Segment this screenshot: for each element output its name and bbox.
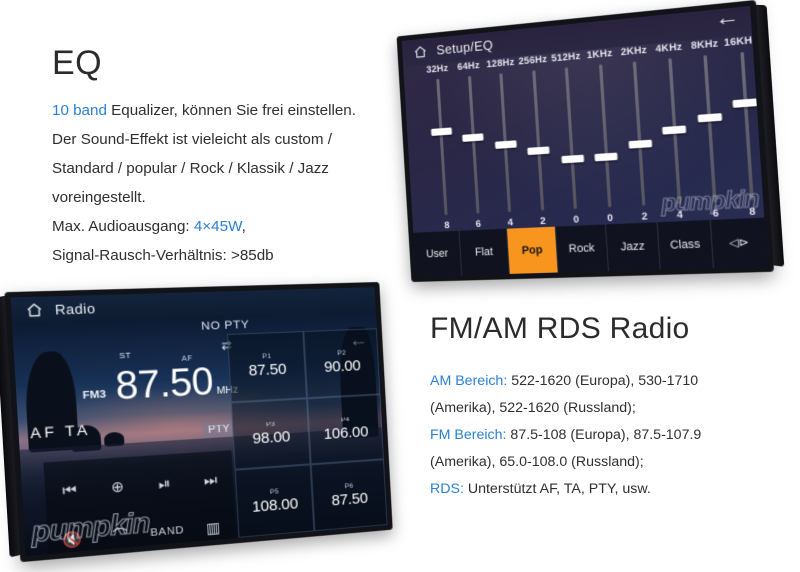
frequency-display: 87.50MHz	[114, 361, 238, 406]
eq-band-frequency-label: 128Hz	[486, 57, 515, 70]
stereo-indicator: ST	[119, 350, 132, 360]
eq-preset-rock[interactable]: Rock	[556, 224, 609, 272]
artwork-rock	[104, 432, 125, 447]
eq-band-frequency-label: 8KHz	[691, 38, 719, 51]
eq-slider-track[interactable]	[436, 79, 447, 215]
poster-canvas: EQ 10 band Equalizer, können Sie frei ei…	[0, 0, 800, 572]
radio-preset-p2[interactable]: P290.00	[303, 328, 380, 398]
frequency-unit: MHz	[216, 384, 238, 397]
eq-screen: Setup/EQ ← 32Hz864Hz6128Hz4256Hz2512Hz01…	[402, 6, 768, 277]
eq-slider-knob[interactable]	[697, 113, 722, 122]
eq-preset-user[interactable]: User	[413, 231, 462, 277]
eq-band-area: 32Hz864Hz6128Hz4256Hz2512Hz01KHz02KHz24K…	[403, 35, 764, 233]
eq-preset-class[interactable]: Class	[658, 220, 714, 270]
artwork-rock	[71, 425, 102, 452]
eq-head-unit: Setup/EQ ← 32Hz864Hz6128Hz4256Hz2512Hz01…	[397, 0, 774, 282]
eq-band-frequency-label: 32Hz	[426, 63, 448, 75]
preset-number: P6	[345, 482, 354, 490]
fm-line-2: 87.5-108 (Europa), 87.5-107.9	[506, 427, 701, 443]
af-ta-buttons[interactable]: AF TA	[30, 421, 91, 442]
eq-band-value: 0	[573, 213, 579, 225]
eq-preset-jazz[interactable]: Jazz	[606, 222, 661, 271]
af-button[interactable]: AF	[30, 423, 58, 442]
eq-slider-track[interactable]	[703, 55, 716, 202]
eq-slider-knob[interactable]	[462, 133, 484, 142]
eq-line-2: Standard / popular / Rock / Klassik / Ja…	[52, 154, 402, 183]
eq-band-32hz[interactable]: 32Hz8	[422, 62, 462, 232]
equalizer-icon[interactable]: ▥	[194, 515, 231, 541]
preset-number: P4	[341, 416, 350, 424]
preset-frequency: 98.00	[252, 428, 291, 448]
eq-band-value: 0	[607, 211, 613, 223]
eq-band-64hz[interactable]: 64Hz6	[453, 59, 494, 230]
band-indicator: FM3	[82, 388, 106, 402]
speaker-balance-icon[interactable]: ◁⊳	[711, 218, 768, 268]
frequency-value: 87.50	[114, 360, 214, 408]
eq-titlebar: Setup/EQ	[402, 6, 752, 67]
fm-line-0: 522-1620 (Europa), 530-1710	[507, 373, 698, 389]
shuffle-icon[interactable]: ⇄	[221, 338, 232, 353]
eq-slider-knob[interactable]	[431, 127, 452, 136]
radio-preset-p6[interactable]: P687.50	[311, 460, 388, 532]
eq-band-1khz[interactable]: 1KHz0	[583, 47, 627, 225]
eq-power-value: 4×45W	[194, 218, 242, 235]
next-station-icon[interactable]: ⏭	[192, 467, 229, 492]
eq-slider-track[interactable]	[599, 64, 611, 207]
eq-band-128hz[interactable]: 128Hz4	[485, 57, 526, 230]
pty-button[interactable]: PTY	[202, 421, 235, 437]
eq-slider-track[interactable]	[740, 52, 753, 201]
artwork-rock	[23, 351, 79, 453]
eq-slider-track[interactable]	[565, 67, 577, 209]
eq-band-count: 10 band	[52, 102, 107, 119]
fm-heading: FM/AM RDS Radio	[430, 312, 690, 346]
station-artwork	[12, 312, 387, 556]
fm-range-label: FM Bereich:	[430, 427, 506, 443]
eq-slider-track[interactable]	[468, 76, 480, 214]
brand-watermark: pumpkin	[30, 507, 150, 550]
fm-line-3: (Amerika), 65.0-108.0 (Russland);	[430, 449, 790, 476]
pty-status: NO PTY	[201, 319, 250, 333]
radio-preset-p1[interactable]: P187.50	[227, 331, 307, 402]
preset-frequency: 106.00	[323, 423, 368, 443]
eq-band-2khz[interactable]: 2KHz2	[617, 44, 662, 223]
radio-control-bar: ⏮⊕⏯⏭ 🔇⌒BAND▥	[43, 450, 236, 554]
eq-slider-knob[interactable]	[495, 140, 517, 149]
headphone-icon[interactable]: ⌒	[101, 522, 140, 548]
eq-line-3: voreingestellt.	[52, 183, 402, 212]
radio-screen: Radio NO PTY ← ⇄ ST AF FM3 87.50MHz AF T…	[11, 287, 388, 556]
eq-band-value: 4	[507, 216, 513, 228]
rds-label: RDS:	[430, 481, 464, 497]
home-icon[interactable]	[25, 302, 44, 319]
eq-line-1: Der Sound-Effekt ist vieleicht als custo…	[52, 125, 402, 154]
eq-preset-flat[interactable]: Flat	[460, 229, 510, 276]
preset-frequency: 90.00	[324, 357, 361, 376]
preset-grid: P187.50P290.00P398.00P4106.00P5108.00P68…	[227, 328, 388, 538]
eq-preset-pop[interactable]: Pop	[507, 227, 559, 274]
eq-slider-track[interactable]	[499, 73, 511, 212]
eq-line-0: Equalizer, können Sie frei einstellen.	[107, 102, 356, 119]
radio-screen-title: Radio	[54, 300, 95, 317]
back-arrow-icon[interactable]: ←	[348, 331, 368, 351]
back-arrow-icon[interactable]: ←	[714, 6, 740, 30]
preset-number: P1	[262, 353, 271, 361]
eq-band-value: 8	[749, 205, 756, 217]
scan-icon[interactable]: ⊕	[98, 473, 137, 499]
eq-line-5: Signal-Rausch-Verhältnis: >85db	[52, 241, 402, 270]
eq-band-value: 6	[475, 218, 481, 229]
radio-content: NO PTY ← ⇄ ST AF FM3 87.50MHz AF TA PTY …	[12, 312, 387, 556]
eq-slider-track[interactable]	[532, 70, 544, 210]
eq-band-value: 2	[540, 215, 546, 227]
eq-slider-track[interactable]	[633, 61, 646, 205]
preset-number: P2	[337, 350, 346, 357]
eq-band-512hz[interactable]: 512Hz0	[550, 50, 593, 226]
eq-band-8khz[interactable]: 8KHz6	[687, 37, 733, 220]
eq-slider-knob[interactable]	[733, 99, 758, 109]
eq-band-value: 2	[641, 210, 648, 222]
artwork-rock	[337, 326, 379, 438]
am-range-label: AM Bereich:	[430, 373, 507, 389]
eq-band-frequency-label: 1KHz	[586, 48, 612, 61]
eq-heading: EQ	[52, 44, 102, 83]
fm-line-4: Unterstützt AF, TA, PTY, usw.	[464, 481, 651, 497]
radio-preset-p3[interactable]: P398.00	[231, 398, 311, 470]
eq-band-value: 8	[444, 219, 450, 230]
artwork-sea	[20, 427, 388, 556]
radio-preset-p5[interactable]: P5108.00	[235, 465, 315, 538]
fm-description: AM Bereich: 522-1620 (Europa), 530-1710 …	[430, 368, 790, 503]
eq-slider-track[interactable]	[668, 58, 681, 204]
transport-controls: ⏮⊕⏯⏭	[44, 467, 233, 504]
radio-head-unit: Radio NO PTY ← ⇄ ST AF FM3 87.50MHz AF T…	[4, 282, 392, 562]
eq-band-frequency-label: 512Hz	[551, 51, 581, 64]
preset-frequency: 108.00	[252, 495, 299, 516]
eq-band-frequency-label: 256Hz	[518, 54, 547, 67]
preset-number: P3	[266, 421, 275, 429]
preset-frequency: 87.50	[331, 489, 368, 509]
radio-preset-p4[interactable]: P4106.00	[307, 394, 384, 465]
eq-line-4-tail: ,	[242, 218, 246, 235]
ta-button[interactable]: TA	[64, 421, 91, 440]
preset-number: P5	[270, 488, 279, 496]
previous-station-icon[interactable]: ⏮	[50, 477, 90, 503]
eq-band-frequency-label: 2KHz	[620, 44, 647, 57]
eq-band-value: 6	[712, 206, 719, 218]
eq-slider-knob[interactable]	[595, 152, 618, 161]
play-pause-icon[interactable]: ⏯	[145, 470, 183, 496]
eq-slider-knob[interactable]	[628, 140, 652, 149]
eq-slider-knob[interactable]	[527, 147, 549, 156]
eq-line-4: Max. Audioausgang:	[52, 218, 194, 235]
af-indicator: AF	[181, 353, 193, 363]
fm-line-1: (Amerika), 522-1620 (Russland);	[430, 395, 790, 422]
eq-description: 10 band Equalizer, können Sie frei einst…	[52, 96, 402, 270]
eq-band-frequency-label: 64Hz	[457, 60, 480, 72]
mute-icon[interactable]: 🔇	[52, 526, 92, 553]
preset-frequency: 87.50	[248, 361, 287, 380]
eq-band-256hz[interactable]: 256Hz2	[517, 53, 559, 227]
